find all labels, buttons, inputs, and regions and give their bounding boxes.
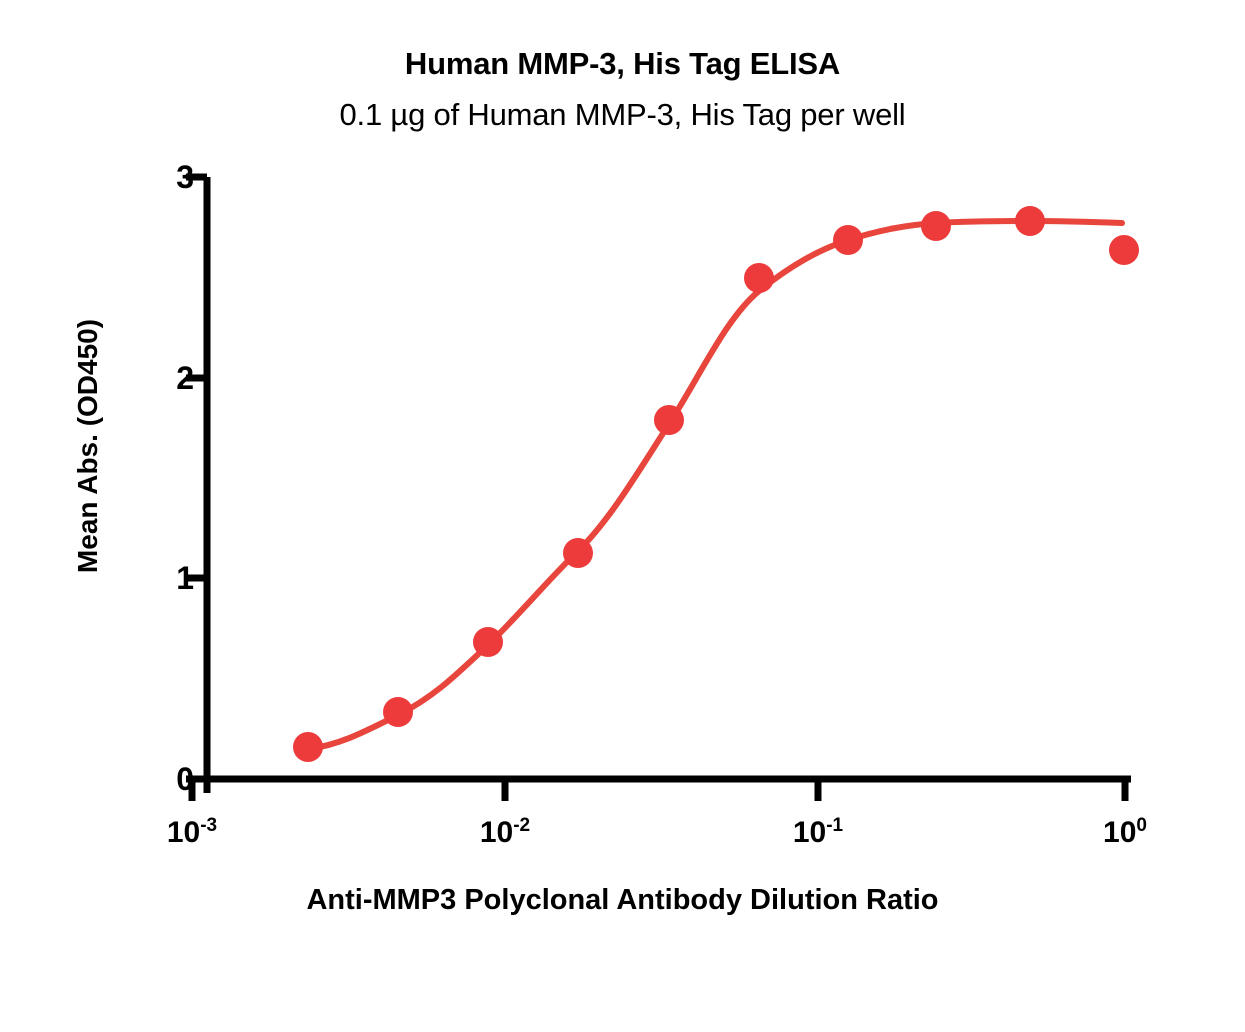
data-point <box>1109 235 1139 265</box>
fit-curve <box>308 221 1122 749</box>
data-point <box>1015 206 1045 236</box>
data-point <box>383 697 413 727</box>
data-point <box>921 211 951 241</box>
axis-lines <box>194 177 1131 793</box>
data-point <box>293 732 323 762</box>
data-point <box>744 263 774 293</box>
data-point <box>473 627 503 657</box>
data-point <box>833 225 863 255</box>
data-point-markers <box>293 206 1139 762</box>
data-point <box>563 538 593 568</box>
plot-area <box>0 0 1245 1032</box>
elisa-chart-figure: Human MMP-3, His Tag ELISA 0.1 µg of Hum… <box>0 0 1245 1032</box>
data-point <box>654 405 684 435</box>
